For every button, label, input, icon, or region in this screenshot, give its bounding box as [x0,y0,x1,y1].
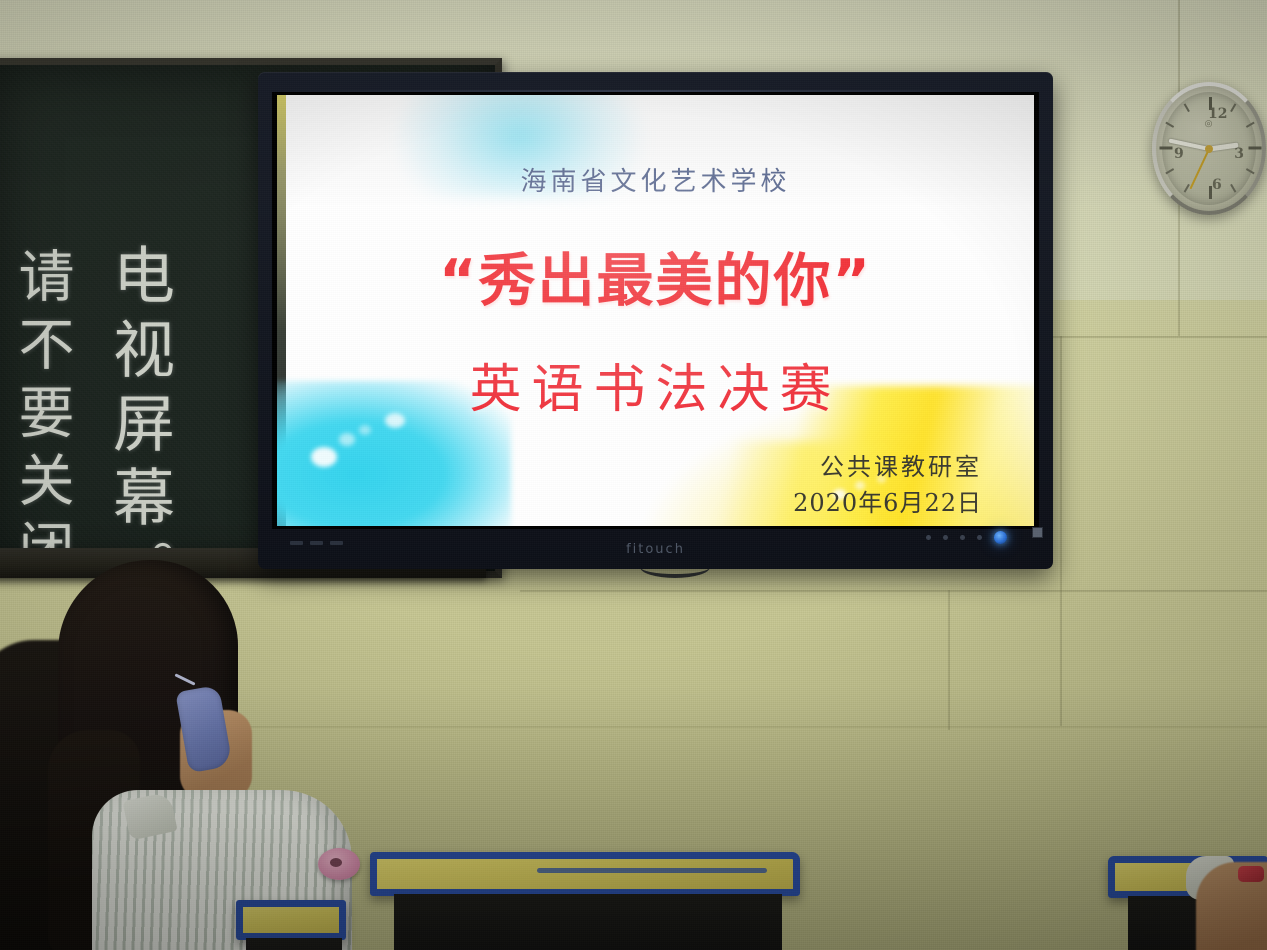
scrunchie-hole [330,858,342,867]
clock-tick [1160,147,1173,150]
display-brand-logo: fitouch [258,542,1053,557]
control-key[interactable] [960,535,965,540]
desk-surface [236,900,346,940]
slide-text-group: 海南省文化艺术学校 “秀出最美的你” 英语书法决赛 公共课教研室 2020年6月… [277,95,1034,526]
port [330,541,343,545]
clock-face: ◎ 12 3 6 9 [1162,92,1256,205]
clock-tick [1230,103,1236,112]
clock-center-pin [1205,145,1213,153]
clock-tick [1230,184,1236,193]
interactive-display[interactable]: 海南省文化艺术学校 “秀出最美的你” 英语书法决赛 公共课教研室 2020年6月… [258,72,1053,569]
clock-tick [1246,168,1255,174]
presentation-slide: 海南省文化艺术学校 “秀出最美的你” 英语书法决赛 公共课教研室 2020年6月… [277,95,1034,526]
clock-numeral-12: 12 [1208,106,1227,122]
display-mount-cable [640,556,710,578]
clock-second-hand [1189,148,1209,189]
desk-storage-box [394,894,782,950]
bezel-control-keys[interactable] [926,531,1007,544]
clock-numeral-9: 9 [1174,146,1184,162]
desk-storage-box [246,938,342,950]
slide-title: “秀出最美的你” [277,235,1034,317]
port [310,541,323,545]
control-key[interactable] [926,535,931,540]
wall-seam-vertical-3 [948,590,950,730]
control-key[interactable] [943,535,948,540]
port [290,541,303,545]
chalk-text-line-2: 请不要关闭 [1,247,82,587]
slide-subtitle: 英语书法决赛 [277,347,1034,422]
wall-seam-horizontal-2 [520,590,1267,592]
clock-tick [1249,147,1262,150]
ir-sensor [1032,527,1043,538]
slide-school-name: 海南省文化艺术学校 [277,161,1034,198]
control-key[interactable] [977,535,982,540]
red-object-on-desk [1238,866,1264,882]
power-button[interactable] [994,531,1007,544]
clock-tick [1165,168,1174,174]
clock-numeral-6: 6 [1212,177,1222,193]
classroom-photo: 电视屏幕。 请不要关闭 海南省文化艺术学校 “秀出最美 [0,0,1267,950]
clock-tick [1246,122,1255,128]
wall-clock: ◎ 12 3 6 9 [1152,82,1266,215]
student-foreground [30,560,370,950]
slide-organizer: 公共课教研室 [820,447,982,482]
bezel-ports [290,541,343,545]
desk-surface [370,852,800,896]
clock-tick [1184,103,1190,112]
pencil-groove [537,868,767,873]
slide-date: 2020年6月22日 [793,483,982,518]
clock-tick [1165,122,1174,128]
wall-seam-vertical-2 [1060,336,1062,726]
hair-scrunchie [318,848,360,880]
display-panel: 海南省文化艺术学校 “秀出最美的你” 英语书法决赛 公共课教研室 2020年6月… [272,92,1039,529]
clock-numeral-3: 3 [1234,146,1244,162]
